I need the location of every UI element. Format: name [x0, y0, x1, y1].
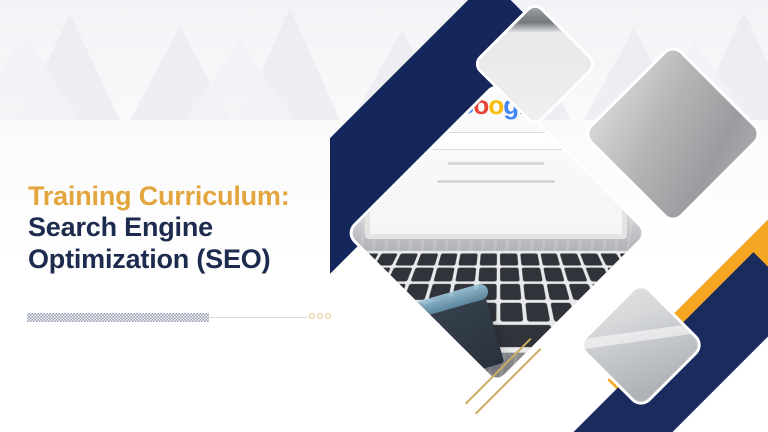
divider-dot [317, 313, 323, 319]
divider-dots [309, 313, 331, 319]
tile-laptop-lid [585, 46, 760, 221]
title-slide: Training Curriculum: Search Engine Optim… [0, 0, 768, 432]
headline-line-3: Optimization (SEO) [28, 244, 358, 275]
halftone-bar [27, 313, 209, 322]
thin-rule [209, 317, 309, 318]
headline-line-2: Search Engine [28, 212, 358, 243]
headline-accent-line: Training Curriculum: [28, 181, 358, 212]
divider-dot [309, 313, 315, 319]
photo-collage: Google [330, 0, 768, 432]
slide-headline: Training Curriculum: Search Engine Optim… [28, 181, 358, 275]
decorative-divider [27, 310, 327, 326]
